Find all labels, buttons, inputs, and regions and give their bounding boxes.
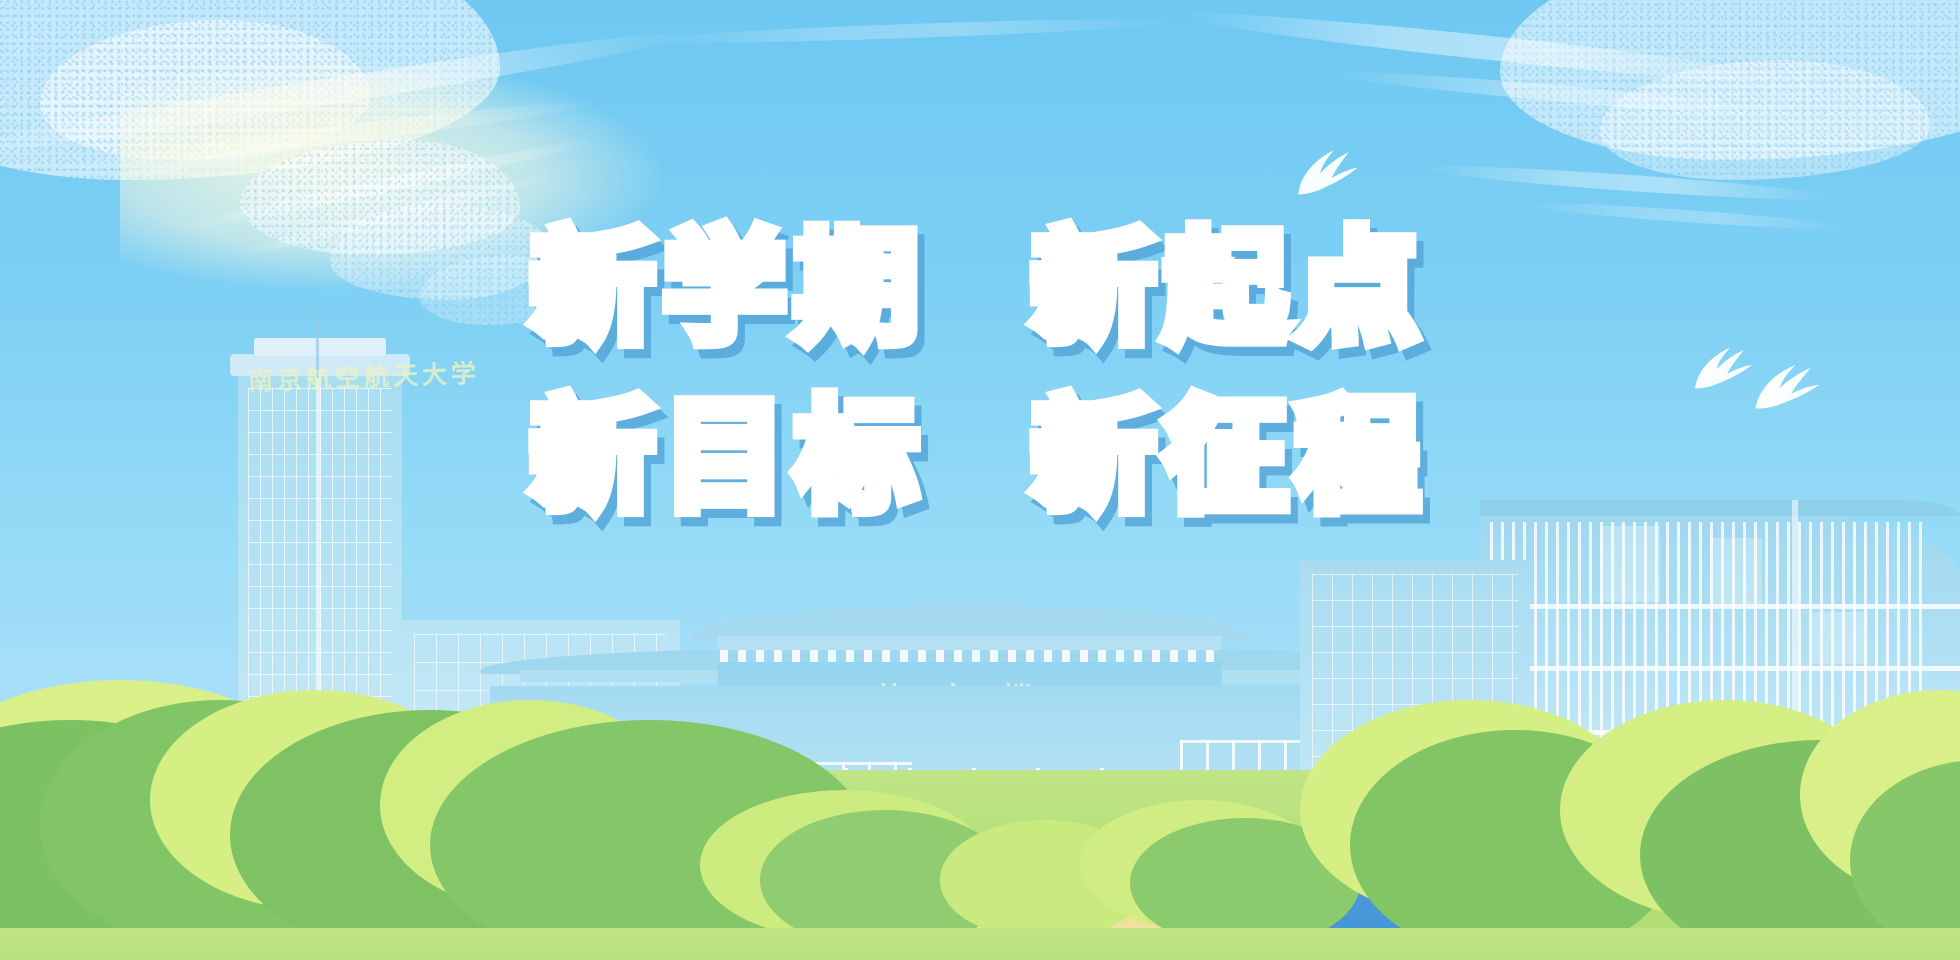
building-label-left: 南京航空航天大学 [247,354,468,398]
main-hall-center-roof [690,606,1250,640]
campus-banner: 南京航空航天大学 苍穹楼 [0,0,1960,960]
swallow-icon-right-b [1745,357,1829,415]
cloud-streak-center [640,15,1180,48]
foreground-lawn [0,928,1960,960]
swallow-icon-upper [1286,141,1368,201]
cloud-streak-upper-right-4 [1520,199,1850,234]
